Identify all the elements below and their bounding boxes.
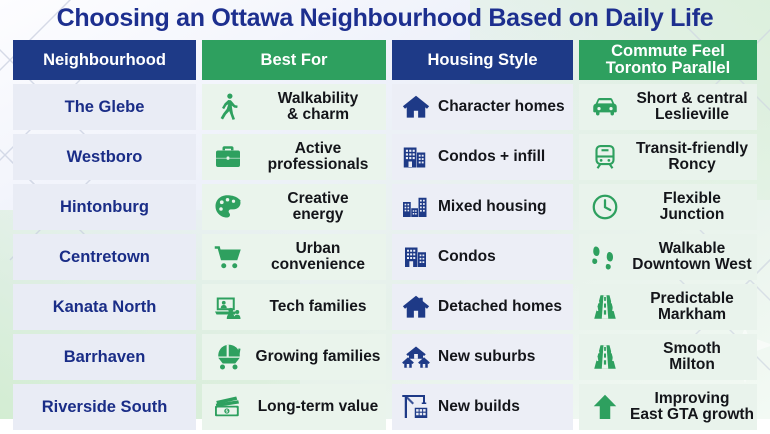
cell-housing-style: Detached homes — [392, 284, 573, 330]
table-header-row: Neighbourhood Best For Housing Style Com… — [13, 40, 757, 80]
housing-style-label: Mixed housing — [433, 199, 547, 216]
cell-commute-feel: Flexible Junction — [579, 184, 757, 230]
table-row: The Glebe Walkability & charm Character … — [13, 84, 757, 130]
clock-icon — [588, 190, 622, 224]
train-icon — [588, 140, 622, 174]
house-icon — [399, 90, 433, 124]
car-icon — [588, 90, 622, 124]
walking-person-icon — [211, 90, 245, 124]
commute-feel-label: Flexible Junction — [622, 191, 757, 224]
housing-style-label: New builds — [433, 399, 520, 416]
road-icon — [588, 290, 622, 324]
neighbourhood-label: Kanata North — [53, 298, 157, 317]
commute-feel-label: Smooth Milton — [622, 341, 757, 374]
briefcase-icon — [211, 140, 245, 174]
stroller-icon — [211, 340, 245, 374]
neighbourhood-label: Barrhaven — [64, 348, 146, 367]
best-for-label: Urban convenience — [245, 241, 386, 274]
cell-best-for: Active professionals — [202, 134, 386, 180]
commute-feel-label: Predictable Markham — [622, 291, 757, 324]
best-for-label: Tech families — [245, 299, 386, 316]
shopping-cart-icon — [211, 240, 245, 274]
housing-style-label: Character homes — [433, 99, 565, 116]
neighbourhood-label: Centretown — [59, 248, 150, 267]
comparison-table: Neighbourhood Best For Housing Style Com… — [13, 40, 757, 434]
cell-best-for: Creative energy — [202, 184, 386, 230]
cell-neighbourhood: Westboro — [13, 134, 196, 180]
neighbourhood-label: Westboro — [67, 148, 143, 167]
commute-feel-label: Transit-friendly Roncy — [622, 141, 757, 174]
page-title: Choosing an Ottawa Neighbourhood Based o… — [0, 4, 770, 33]
cell-best-for: $ Long-term value — [202, 384, 386, 430]
table-row: Kanata North Tech families Detached home… — [13, 284, 757, 330]
cell-housing-style: New suburbs — [392, 334, 573, 380]
cell-commute-feel: Transit-friendly Roncy — [579, 134, 757, 180]
footprints-icon — [588, 240, 622, 274]
header-label: Housing Style — [427, 52, 537, 69]
cell-best-for: Growing families — [202, 334, 386, 380]
cell-best-for: Urban convenience — [202, 234, 386, 280]
laptop-family-icon — [211, 290, 245, 324]
cell-neighbourhood: Barrhaven — [13, 334, 196, 380]
neighbourhood-label: The Glebe — [65, 98, 145, 117]
housing-style-label: Detached homes — [433, 299, 562, 316]
header-label: Best For — [261, 52, 328, 69]
best-for-label: Walkability & charm — [245, 91, 386, 124]
cell-housing-style: Condos — [392, 234, 573, 280]
road-icon — [588, 340, 622, 374]
table-row: Barrhaven Growing families New suburbs S… — [13, 334, 757, 380]
detached-house-icon — [399, 290, 433, 324]
header-housing-style: Housing Style — [392, 40, 573, 80]
best-for-label: Creative energy — [245, 191, 386, 224]
table-row: Westboro Active professionals Condos + i… — [13, 134, 757, 180]
housing-style-label: Condos — [433, 249, 496, 266]
best-for-label: Active professionals — [245, 141, 386, 174]
header-neighbourhood: Neighbourhood — [13, 40, 196, 80]
cell-commute-feel: Improving East GTA growth — [579, 384, 757, 430]
paint-palette-icon — [211, 190, 245, 224]
header-label: Neighbourhood — [43, 52, 166, 69]
infographic-table: Choosing an Ottawa Neighbourhood Based o… — [0, 0, 770, 419]
table-row: Centretown Urban convenience Condos Walk… — [13, 234, 757, 280]
cell-best-for: Tech families — [202, 284, 386, 330]
commute-feel-label: Walkable Downtown West — [622, 241, 757, 274]
cell-housing-style: Mixed housing — [392, 184, 573, 230]
table-row: Hintonburg Creative energy Mixed housing… — [13, 184, 757, 230]
condo-buildings-icon — [399, 140, 433, 174]
header-label: Commute Feel Toronto Parallel — [606, 43, 730, 77]
cell-neighbourhood: Kanata North — [13, 284, 196, 330]
cell-neighbourhood: Riverside South — [13, 384, 196, 430]
table-row: Riverside South $ Long-term value New bu… — [13, 384, 757, 430]
mixed-buildings-icon — [399, 190, 433, 224]
cell-commute-feel: Predictable Markham — [579, 284, 757, 330]
housing-style-label: Condos + infill — [433, 149, 545, 166]
best-for-label: Long-term value — [245, 399, 386, 416]
cell-housing-style: Condos + infill — [392, 134, 573, 180]
neighbourhood-label: Riverside South — [42, 398, 168, 417]
cell-neighbourhood: Centretown — [13, 234, 196, 280]
housing-style-label: New suburbs — [433, 349, 535, 366]
cell-housing-style: New builds — [392, 384, 573, 430]
cell-commute-feel: Walkable Downtown West — [579, 234, 757, 280]
cell-neighbourhood: Hintonburg — [13, 184, 196, 230]
cell-housing-style: Character homes — [392, 84, 573, 130]
cell-best-for: Walkability & charm — [202, 84, 386, 130]
best-for-label: Growing families — [245, 349, 386, 366]
header-best-for: Best For — [202, 40, 386, 80]
cell-neighbourhood: The Glebe — [13, 84, 196, 130]
condo-tower-icon — [399, 240, 433, 274]
cell-commute-feel: Short & central Leslieville — [579, 84, 757, 130]
suburb-houses-icon — [399, 340, 433, 374]
commute-feel-label: Short & central Leslieville — [622, 91, 757, 124]
cell-commute-feel: Smooth Milton — [579, 334, 757, 380]
neighbourhood-label: Hintonburg — [60, 198, 149, 217]
header-commute-feel: Commute Feel Toronto Parallel — [579, 40, 757, 80]
